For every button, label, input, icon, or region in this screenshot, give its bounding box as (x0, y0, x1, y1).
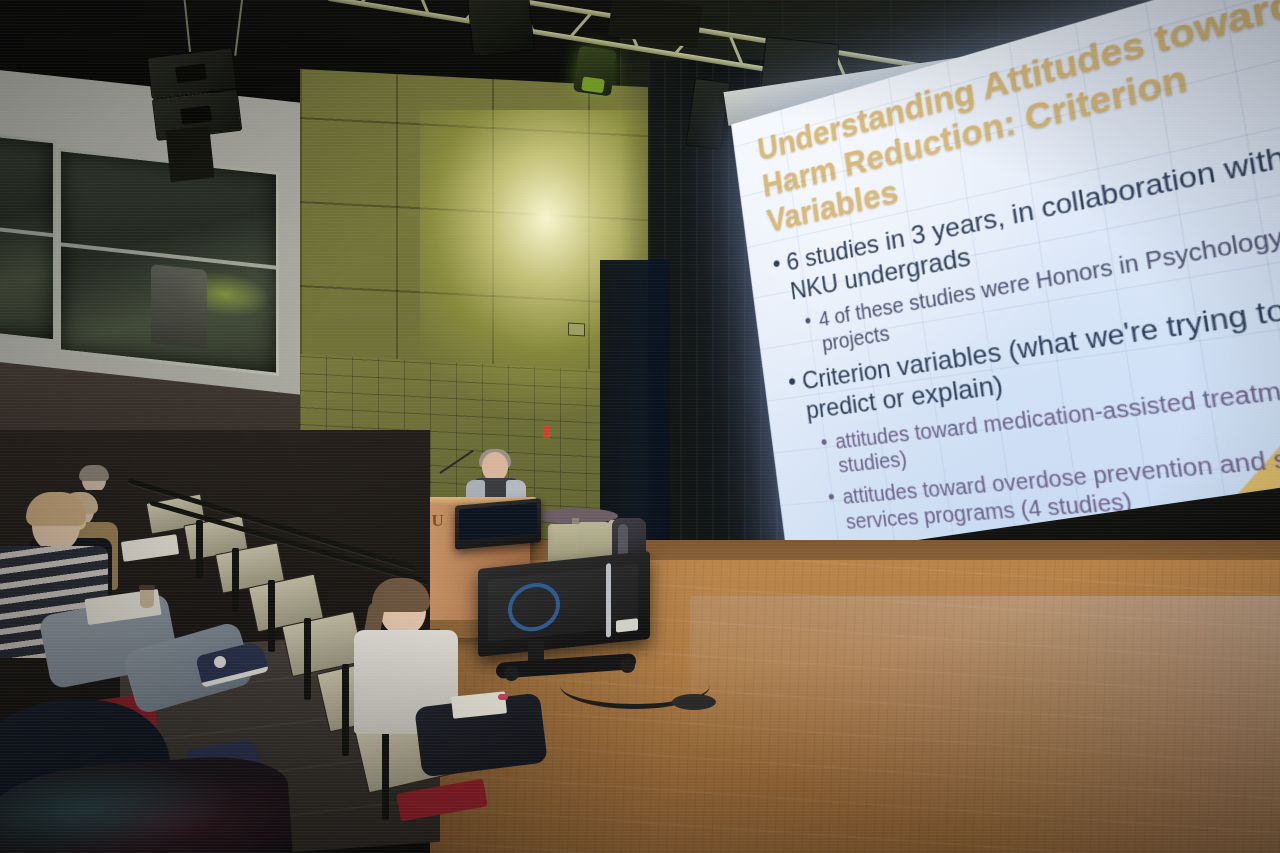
cable-ramp (672, 694, 716, 710)
window-mullion (0, 225, 53, 237)
truss-web (569, 13, 591, 38)
rail-post (268, 580, 275, 652)
moving-head-light-icon (573, 46, 617, 97)
pen (498, 694, 508, 700)
wall-plate-icon (568, 323, 585, 337)
hair (26, 492, 86, 526)
control-booth-window (58, 148, 279, 376)
presenter-laptop (455, 498, 541, 550)
rail-post (196, 520, 203, 578)
monitor-cable (606, 563, 611, 638)
hanging-speaker (467, 0, 535, 57)
speaker-port (180, 105, 212, 125)
rail-post (232, 548, 239, 612)
lecture-hall-photo: NKU Understanding Attitudes toward Harm … (0, 0, 1280, 853)
stand-caster (504, 666, 519, 681)
rail-post (342, 664, 349, 756)
hair (79, 465, 109, 481)
presenter-head (482, 452, 508, 481)
sneaker-logo-icon (214, 656, 226, 668)
fire-alarm-icon (543, 425, 550, 438)
confidence-monitor (478, 551, 650, 657)
rail-post (304, 618, 311, 700)
speaker-sub (165, 126, 214, 182)
booth-chair (151, 264, 207, 349)
laptop-screen (459, 503, 537, 541)
speaker-port (175, 64, 207, 84)
monitor-label (616, 618, 638, 632)
coffee-cup (140, 588, 154, 608)
control-booth-window-secondary (0, 131, 56, 342)
